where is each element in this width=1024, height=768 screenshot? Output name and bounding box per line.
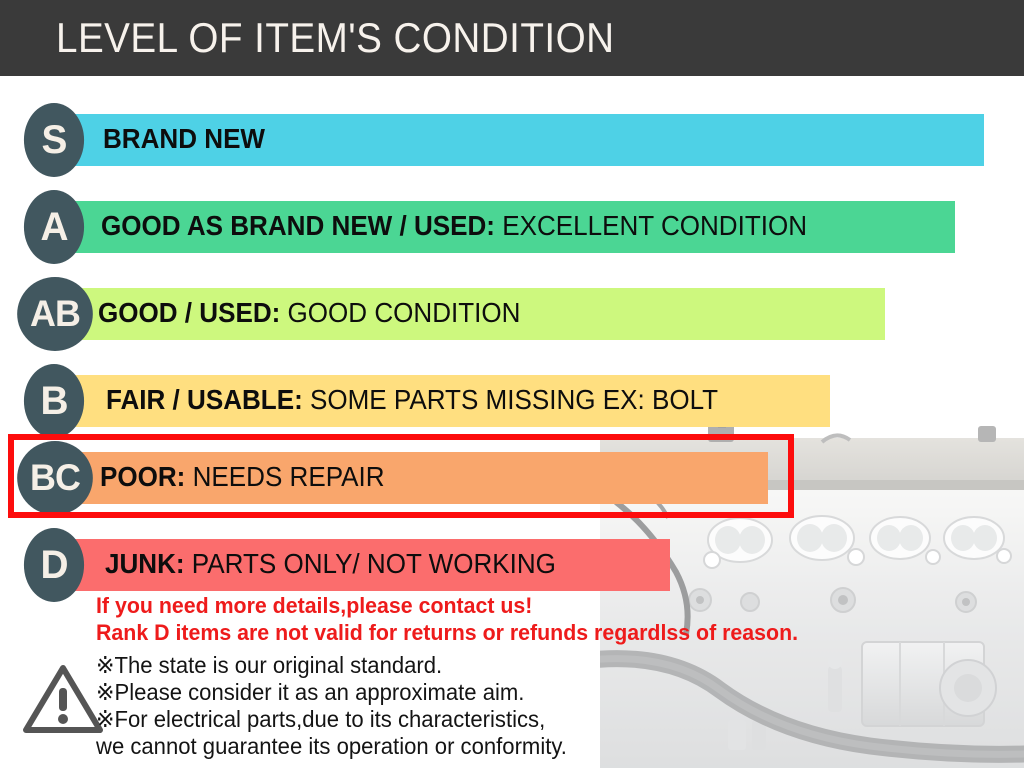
page-title: LEVEL OF ITEM'S CONDITION — [56, 15, 614, 61]
note-black-line-4: we cannot guarantee its operation or con… — [96, 733, 960, 760]
rank-prefix-bc: POOR: — [100, 461, 185, 492]
warning-triangle-icon — [22, 662, 104, 736]
rank-label-ab: GOOD / USED: GOOD CONDITION — [98, 295, 520, 331]
rank-prefix-s: BRAND NEW — [103, 123, 265, 154]
rank-prefix-ab: GOOD / USED: — [98, 297, 280, 328]
rank-label-bc: POOR: NEEDS REPAIR — [100, 459, 385, 495]
rank-suffix-ab: GOOD CONDITION — [280, 297, 520, 328]
rank-badge-ab: AB — [17, 277, 93, 351]
rank-prefix-d: JUNK: — [105, 548, 185, 579]
note-black-line-1: ※The state is our original standard. — [96, 652, 960, 679]
rank-label-a: GOOD AS BRAND NEW / USED: EXCELLENT COND… — [101, 208, 807, 244]
rank-suffix-a: EXCELLENT CONDITION — [495, 210, 807, 241]
rank-badge-d: D — [24, 528, 84, 602]
rank-suffix-bc: NEEDS REPAIR — [185, 461, 384, 492]
rank-suffix-b: SOME PARTS MISSING EX: BOLT — [303, 384, 718, 415]
rank-suffix-d: PARTS ONLY/ NOT WORKING — [185, 548, 556, 579]
rank-badge-b: B — [24, 364, 84, 438]
notes-block: If you need more details,please contact … — [96, 592, 996, 760]
rank-badge-bc: BC — [17, 441, 93, 515]
rank-prefix-b: FAIR / USABLE: — [106, 384, 303, 415]
rank-label-s: BRAND NEW — [103, 121, 265, 157]
rank-label-b: FAIR / USABLE: SOME PARTS MISSING EX: BO… — [106, 382, 718, 418]
rank-prefix-a: GOOD AS BRAND NEW / USED: — [101, 210, 495, 241]
rank-badge-s: S — [24, 103, 84, 177]
note-black-line-3: ※For electrical parts,due to its charact… — [96, 706, 960, 733]
condition-rank-infographic: LEVEL OF ITEM'S CONDITION S BRAND NEW A … — [0, 0, 1024, 768]
note-black-line-2: ※Please consider it as an approximate ai… — [96, 679, 960, 706]
rank-badge-a: A — [24, 190, 84, 264]
note-red-line-1: If you need more details,please contact … — [96, 592, 969, 619]
note-red-line-2: Rank D items are not valid for returns o… — [96, 619, 969, 646]
rank-label-d: JUNK: PARTS ONLY/ NOT WORKING — [105, 546, 556, 582]
